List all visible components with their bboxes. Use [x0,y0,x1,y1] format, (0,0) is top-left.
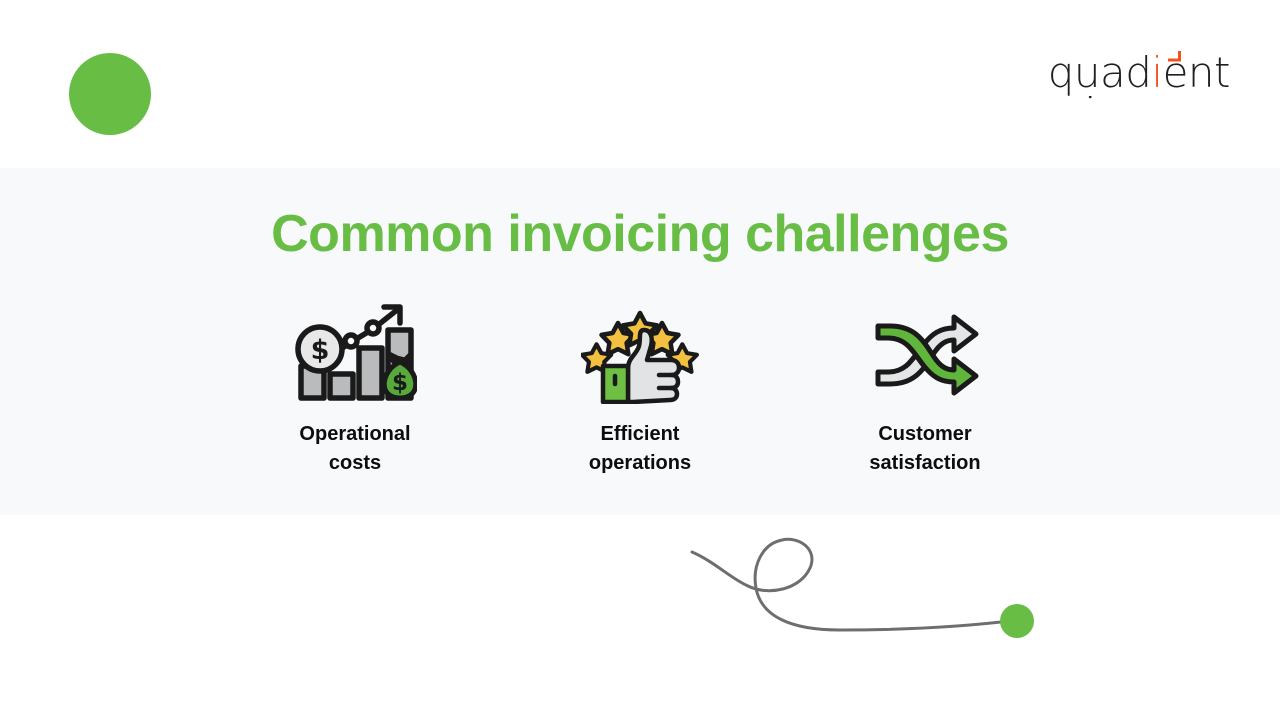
slide-root: quadient Common invoicing challenges [0,0,1280,720]
logo-text-before: quad [1048,48,1152,97]
thumbs-up-five-stars-icon [581,296,699,404]
crossing-arrows-shuffle-icon [866,296,984,404]
card-customer-satisfaction: Customer satisfaction [810,296,1040,478]
challenge-cards: $ $ Operational costs [240,296,1040,478]
card-label-operational-costs: Operational costs [299,420,410,478]
quadient-logo: quadient [1065,48,1230,104]
card-efficient-operations: Efficient operations [525,296,755,478]
card-label-efficient-operations: Efficient operations [589,420,691,478]
page-title: Common invoicing challenges [0,200,1280,268]
card-operational-costs: $ $ Operational costs [240,296,470,478]
logo-i-flag-icon [1168,51,1182,63]
svg-text:$: $ [311,335,330,366]
logo-text-accent: i [1151,48,1162,97]
looping-line-decoration [660,510,1060,670]
green-circle-decoration [69,53,151,135]
growing-costs-chart-icon: $ $ [293,296,417,404]
card-label-customer-satisfaction: Customer satisfaction [869,420,980,478]
svg-text:$: $ [392,370,408,396]
